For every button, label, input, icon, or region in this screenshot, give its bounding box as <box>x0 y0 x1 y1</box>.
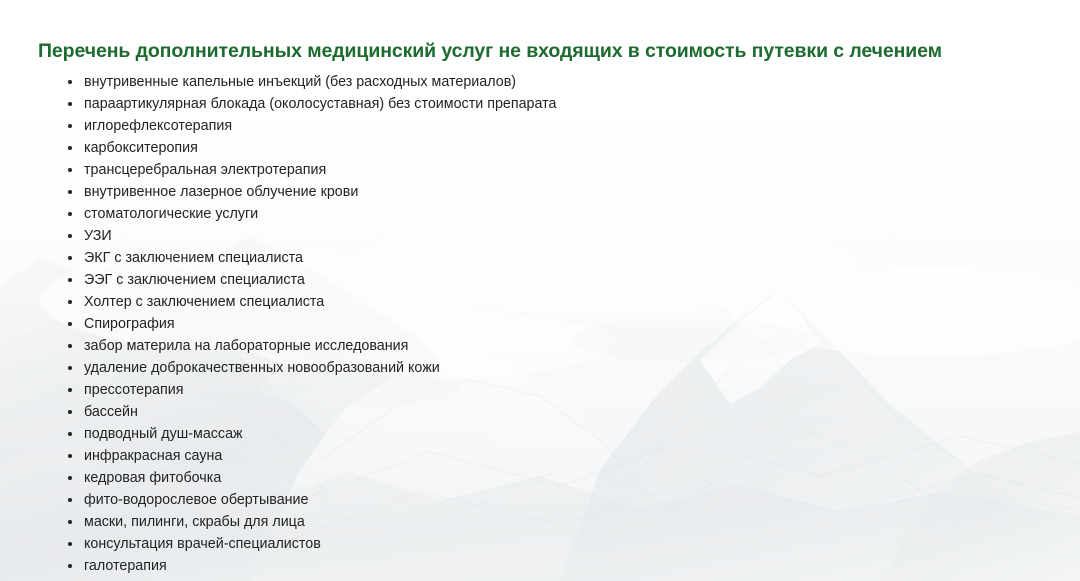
list-item-label: маски, пилинги, скрабы для лица <box>84 514 305 530</box>
list-item-label: галотерапия <box>84 558 167 574</box>
list-item-label: прессотерапия <box>84 382 183 398</box>
bullet-icon <box>68 432 72 436</box>
bullet-icon <box>68 234 72 238</box>
list-item: стоматологические услуги <box>66 203 1026 225</box>
list-item-label: параартикулярная блокада (околосуставная… <box>84 96 556 112</box>
list-item-label: внутривенные капельные инъекций (без рас… <box>84 74 516 90</box>
list-item: удаление доброкачественных новообразован… <box>66 357 1026 379</box>
list-item-label: кедровая фитобочка <box>84 470 221 486</box>
services-list: внутривенные капельные инъекций (без рас… <box>66 71 1026 577</box>
list-item: галотерапия <box>66 555 1026 577</box>
bullet-icon <box>68 520 72 524</box>
list-item: прессотерапия <box>66 379 1026 401</box>
list-item-label: удаление доброкачественных новообразован… <box>84 360 440 376</box>
list-item: фито-водорослевое обертывание <box>66 489 1026 511</box>
list-item-label: трансцеребральная электротерапия <box>84 162 326 178</box>
bullet-icon <box>68 344 72 348</box>
bullet-icon <box>68 124 72 128</box>
list-item-label: внутривенное лазерное облучение крови <box>84 184 358 200</box>
bullet-icon <box>68 168 72 172</box>
list-item-label: консультация врачей-специалистов <box>84 536 321 552</box>
list-item-label: забор материла на лабораторные исследова… <box>84 338 408 354</box>
bullet-icon <box>68 388 72 392</box>
list-item: карбокситеропия <box>66 137 1026 159</box>
bullet-icon <box>68 102 72 106</box>
bullet-icon <box>68 300 72 304</box>
bullet-icon <box>68 366 72 370</box>
list-item: УЗИ <box>66 225 1026 247</box>
list-item: забор материла на лабораторные исследова… <box>66 335 1026 357</box>
slide-content: Перечень дополнительных медицинский услу… <box>0 0 1080 581</box>
bullet-icon <box>68 410 72 414</box>
bullet-icon <box>68 80 72 84</box>
bullet-icon <box>68 542 72 546</box>
list-item-label: ЭКГ с заключением специалиста <box>84 250 303 266</box>
list-item-label: иглорефлексотерапия <box>84 118 232 134</box>
bullet-icon <box>68 190 72 194</box>
list-item-label: бассейн <box>84 404 138 420</box>
bullet-icon <box>68 498 72 502</box>
list-item: внутривенные капельные инъекций (без рас… <box>66 71 1026 93</box>
list-item: кедровая фитобочка <box>66 467 1026 489</box>
bullet-icon <box>68 322 72 326</box>
bullet-icon <box>68 476 72 480</box>
list-item-label: Холтер с заключением специалиста <box>84 294 324 310</box>
list-item: инфракрасная сауна <box>66 445 1026 467</box>
list-item-label: УЗИ <box>84 228 112 244</box>
list-item: ЭЭГ с заключением специалиста <box>66 269 1026 291</box>
list-item: Холтер с заключением специалиста <box>66 291 1026 313</box>
bullet-icon <box>68 146 72 150</box>
list-item: подводный душ-массаж <box>66 423 1026 445</box>
list-item: трансцеребральная электротерапия <box>66 159 1026 181</box>
list-item-label: ЭЭГ с заключением специалиста <box>84 272 305 288</box>
page-title: Перечень дополнительных медицинский услу… <box>38 40 942 63</box>
list-item: консультация врачей-специалистов <box>66 533 1026 555</box>
list-item: бассейн <box>66 401 1026 423</box>
list-item: внутривенное лазерное облучение крови <box>66 181 1026 203</box>
bullet-icon <box>68 454 72 458</box>
list-item: Спирография <box>66 313 1026 335</box>
list-item: иглорефлексотерапия <box>66 115 1026 137</box>
bullet-icon <box>68 278 72 282</box>
list-item-label: инфракрасная сауна <box>84 448 222 464</box>
bullet-icon <box>68 564 72 568</box>
list-item: ЭКГ с заключением специалиста <box>66 247 1026 269</box>
list-item-label: стоматологические услуги <box>84 206 258 222</box>
list-item-label: Спирография <box>84 316 175 332</box>
list-item-label: карбокситеропия <box>84 140 198 156</box>
bullet-icon <box>68 256 72 260</box>
list-item: маски, пилинги, скрабы для лица <box>66 511 1026 533</box>
slide-root: Перечень дополнительных медицинский услу… <box>0 0 1080 581</box>
list-item-label: фито-водорослевое обертывание <box>84 492 308 508</box>
list-item: параартикулярная блокада (околосуставная… <box>66 93 1026 115</box>
list-item-label: подводный душ-массаж <box>84 426 243 442</box>
bullet-icon <box>68 212 72 216</box>
